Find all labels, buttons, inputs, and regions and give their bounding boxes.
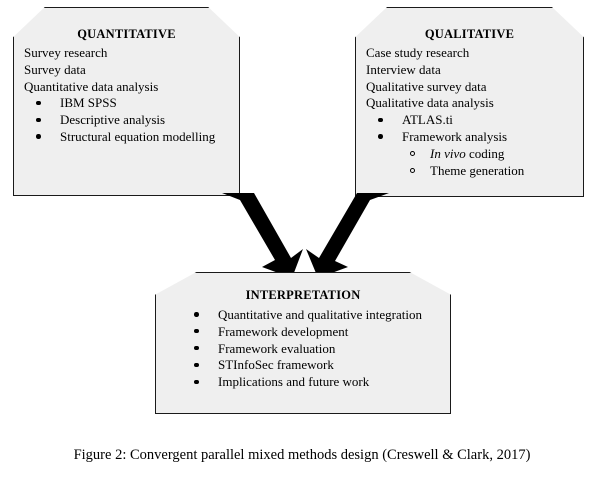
figure-caption: Figure 2: Convergent parallel mixed meth… [0,447,604,464]
list-item: Framework evaluation [182,341,444,358]
node-quantitative-title: QUANTITATIVE [14,28,239,42]
node-quantitative-body: Survey research Survey data Quantitative… [14,45,239,146]
quantitative-bullet-2: Descriptive analysis [60,112,165,127]
qualitative-line-4: Qualitative data analysis [366,95,577,112]
quantitative-bullet-list: IBM SPSS Descriptive analysis Structural… [24,95,233,146]
qualitative-subbullet-1-italic: In vivo [430,146,466,161]
node-quantitative[interactable]: QUANTITATIVE Survey research Survey data… [13,7,240,196]
qualitative-line-3: Qualitative survey data [366,79,577,96]
list-item: Framework development [182,324,444,341]
qualitative-line-2: Interview data [366,62,577,79]
quantitative-line-3: Quantitative data analysis [24,79,233,96]
quantitative-bullet-1: IBM SPSS [60,95,117,110]
list-item: Implications and future work [182,374,444,391]
list-item: Quantitative and qualitative integration [182,307,444,324]
interpretation-bullet-3: Framework evaluation [218,341,335,356]
list-item: STInfoSec framework [182,357,444,374]
bullet-dot-icon [194,329,199,334]
list-item: Framework analysis [366,129,577,146]
node-interpretation[interactable]: INTERPRETATION Quantitative and qualitat… [155,272,451,414]
interpretation-bullet-list: Quantitative and qualitative integration… [182,307,444,391]
list-item: Theme generation [366,163,577,180]
figure-diagram: QUANTITATIVE Survey research Survey data… [0,0,604,478]
bullet-dot-icon [194,380,199,385]
bullet-dot-icon [378,118,383,123]
qualitative-bullet-list: ATLAS.ti Framework analysis [366,112,577,146]
bullet-dot-icon [194,346,199,351]
bullet-ring-icon [410,151,415,156]
qualitative-subbullet-1-rest: coding [466,146,505,161]
arrow-quantitative-to-interpretation-icon [222,193,303,278]
bullet-dot-icon [194,363,199,368]
interpretation-bullet-4: STInfoSec framework [218,357,334,372]
list-item: ATLAS.ti [366,112,577,129]
quantitative-line-1: Survey research [24,45,233,62]
list-item: Descriptive analysis [24,112,233,129]
bullet-dot-icon [378,134,383,139]
qualitative-bullet-2: Framework analysis [402,129,507,144]
list-item: Structural equation modelling [24,129,233,146]
node-qualitative-title: QUALITATIVE [356,28,583,42]
interpretation-bullet-1: Quantitative and qualitative integration [218,307,422,322]
qualitative-line-1: Case study research [366,45,577,62]
bullet-dot-icon [36,118,41,123]
bullet-ring-icon [410,168,415,173]
interpretation-bullet-2: Framework development [218,324,348,339]
bullet-dot-icon [194,312,199,317]
list-item: IBM SPSS [24,95,233,112]
qualitative-subbullet-list: In vivo coding Theme generation [366,146,577,180]
list-item: In vivo coding [366,146,577,163]
qualitative-bullet-1: ATLAS.ti [402,112,453,127]
interpretation-bullet-5: Implications and future work [218,374,369,389]
arrow-qualitative-to-interpretation-icon [306,193,389,278]
bullet-dot-icon [36,101,41,106]
quantitative-line-2: Survey data [24,62,233,79]
quantitative-bullet-3: Structural equation modelling [60,129,215,144]
qualitative-subbullet-2-rest: Theme generation [430,163,524,178]
bullet-dot-icon [36,134,41,139]
node-qualitative[interactable]: QUALITATIVE Case study research Intervie… [355,7,584,197]
node-interpretation-title: INTERPRETATION [156,289,450,303]
node-interpretation-body: Quantitative and qualitative integration… [156,307,450,391]
node-qualitative-body: Case study research Interview data Quali… [356,45,583,180]
